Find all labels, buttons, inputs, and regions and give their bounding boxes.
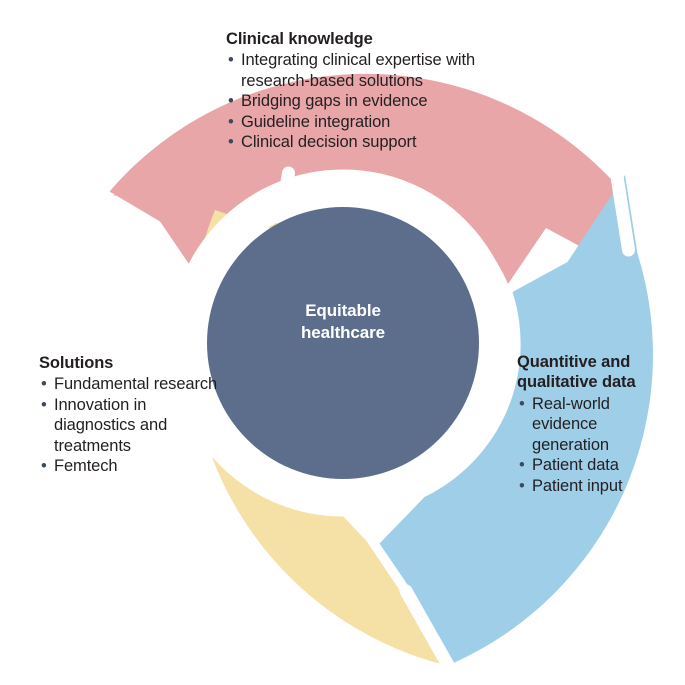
center-hub-circle — [207, 207, 479, 479]
segment-solutions-title: Solutions — [39, 353, 219, 373]
bullet-icon: • — [519, 455, 525, 475]
segment-clinical-knowledge-text: Clinical knowledge •Integrating clinical… — [226, 29, 516, 153]
cycle-diagram: Equitable healthcare Clinical knowledge … — [0, 0, 685, 685]
list-item: •Patient data — [517, 455, 677, 475]
bullet-icon: • — [228, 112, 234, 132]
list-item: •Innovation in diagnostics and treatment… — [39, 395, 219, 456]
list-item-label: Fundamental research — [54, 375, 217, 393]
list-item-label: Patient data — [532, 456, 619, 474]
list-item-label: Patient input — [532, 477, 622, 495]
bullet-icon: • — [228, 50, 234, 70]
list-item-label: Clinical decision support — [241, 133, 416, 151]
bullet-icon: • — [228, 132, 234, 152]
segment-data-title-line-1: Quantitive and — [517, 352, 677, 372]
bullet-icon: • — [228, 91, 234, 111]
segment-clinical-knowledge-title: Clinical knowledge — [226, 29, 516, 49]
bullet-icon: • — [519, 394, 525, 414]
list-item: •Bridging gaps in evidence — [226, 91, 516, 111]
segment-solutions-bullets: •Fundamental research •Innovation in dia… — [39, 374, 219, 476]
bullet-icon: • — [519, 476, 525, 496]
list-item-label: Integrating clinical expertise with rese… — [241, 51, 475, 89]
segment-data-title-line-2: qualitative data — [517, 372, 677, 392]
list-item-label: Bridging gaps in evidence — [241, 92, 427, 110]
segment-quantitive-qualitative-data-bullets: •Real-world evidence generation •Patient… — [517, 394, 677, 496]
list-item: •Patient input — [517, 476, 677, 496]
list-item: •Real-world evidence generation — [517, 394, 677, 455]
list-item: •Femtech — [39, 456, 219, 476]
list-item: •Integrating clinical expertise with res… — [226, 50, 516, 91]
segment-solutions-text: Solutions •Fundamental research •Innovat… — [39, 353, 219, 477]
segment-quantitive-qualitative-data-text: Quantitive and qualitative data •Real-wo… — [517, 352, 677, 496]
segment-clinical-knowledge-bullets: •Integrating clinical expertise with res… — [226, 50, 516, 152]
bullet-icon: • — [41, 456, 47, 476]
list-item: •Guideline integration — [226, 112, 516, 132]
list-item: •Clinical decision support — [226, 132, 516, 152]
bullet-icon: • — [41, 395, 47, 415]
list-item-label: Real-world evidence generation — [532, 395, 610, 454]
segment-quantitive-qualitative-data-title: Quantitive and qualitative data — [517, 352, 677, 393]
list-item-label: Guideline integration — [241, 113, 390, 131]
list-item-label: Femtech — [54, 457, 118, 475]
bullet-icon: • — [41, 374, 47, 394]
list-item: •Fundamental research — [39, 374, 219, 394]
list-item-label: Innovation in diagnostics and treatments — [54, 396, 167, 455]
